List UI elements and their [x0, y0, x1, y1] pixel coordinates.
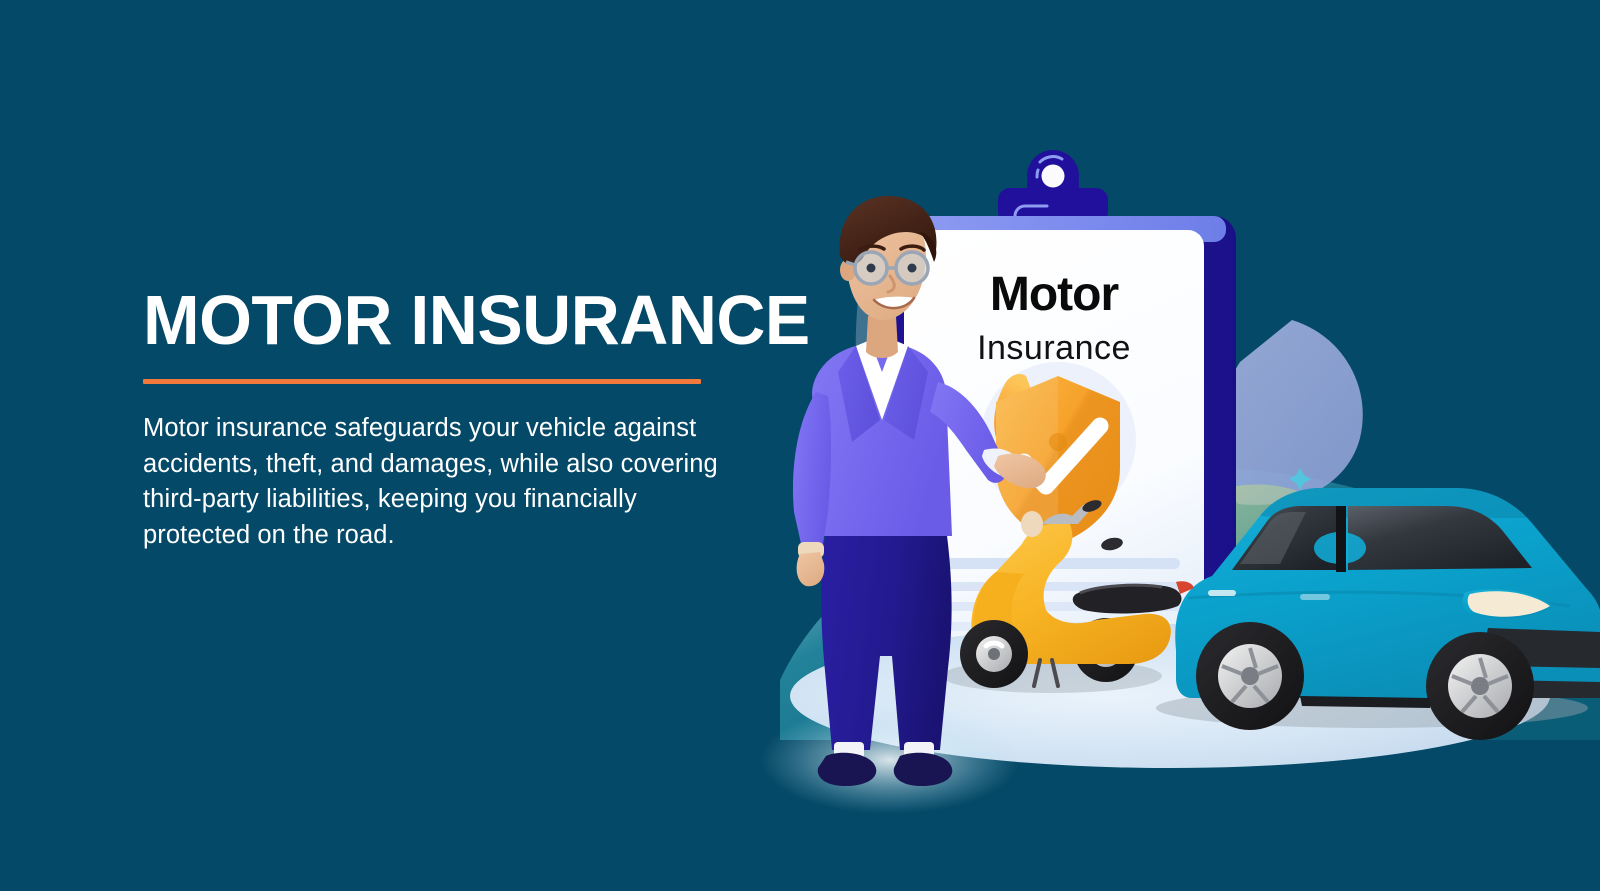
motor-insurance-banner: MOTOR INSURANCE Motor insurance safeguar… — [0, 0, 1600, 891]
hero-text-block: MOTOR INSURANCE Motor insurance safeguar… — [143, 283, 763, 553]
car-front-wheel — [1426, 632, 1534, 740]
clipboard-clip-icon — [998, 150, 1108, 224]
page-title: MOTOR INSURANCE — [143, 283, 744, 357]
clipboard-subtitle: Insurance — [977, 329, 1131, 367]
accent-divider — [143, 379, 701, 384]
hero-description: Motor insurance safeguards your vehicle … — [143, 411, 751, 553]
motor-insurance-illustration: Motor Insurance — [740, 120, 1600, 840]
car-rear-wheel — [1196, 622, 1304, 730]
clipboard-title: Motor — [990, 268, 1119, 321]
scooter-front-wheel — [960, 620, 1028, 688]
